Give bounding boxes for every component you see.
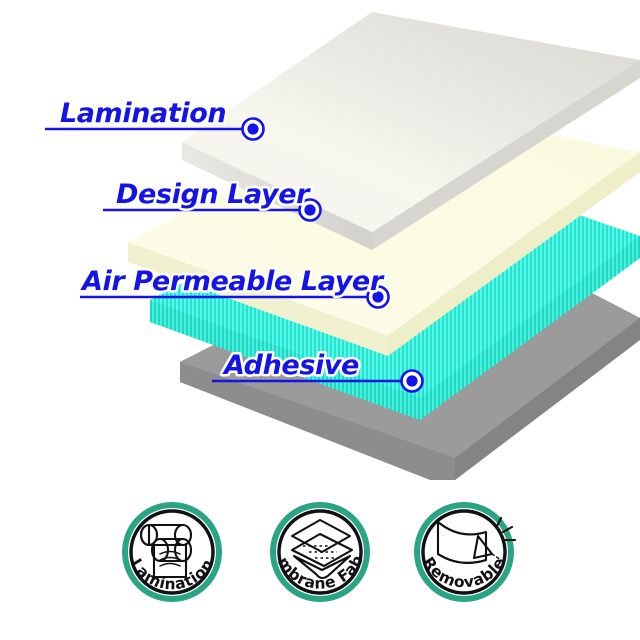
callout-label-air-permeable-layer: Air Permeable Layer xyxy=(80,266,385,297)
callout-label-design-layer: Design Layer xyxy=(116,179,311,210)
feature-badge-row: Lamination Membrane Fabric xyxy=(0,470,640,640)
badge-removable[interactable]: Removable xyxy=(417,505,515,599)
callout-label-lamination: Lamination xyxy=(60,98,226,129)
layer-stack-diagram: Lamination Design Layer Air Permeable La… xyxy=(0,0,640,480)
badge-lamination[interactable]: Lamination xyxy=(125,505,219,599)
callout-dot-core-adhesive xyxy=(406,375,417,386)
callout-label-adhesive: Adhesive xyxy=(222,350,359,381)
infographic-canvas: Lamination Design Layer Air Permeable La… xyxy=(0,0,640,640)
callout-dot-core-lamination xyxy=(247,123,258,134)
